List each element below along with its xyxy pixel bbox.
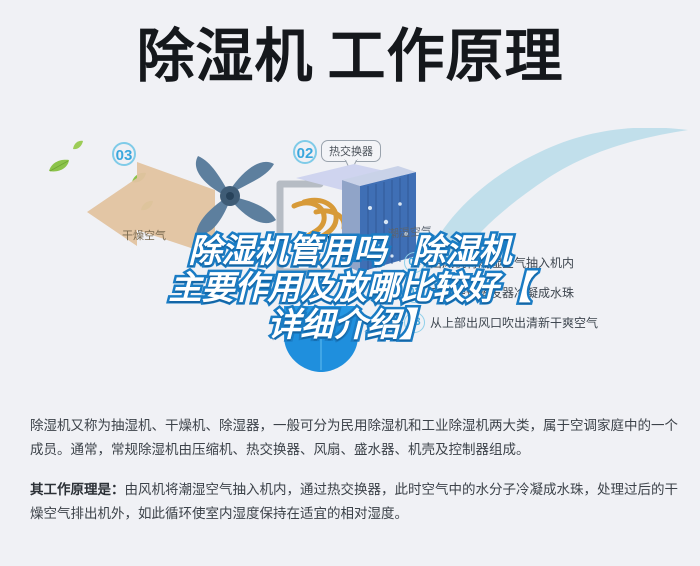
overlay-line-1b: 除湿机 <box>413 232 512 269</box>
leaf-icon <box>48 159 70 173</box>
overlay-headline: 除湿机管用吗除湿机 主要作用及放哪比较好【 详细介绍】 <box>0 232 700 343</box>
article-body: 除湿机又称为抽湿机、干燥机、除湿器，一般可分为民用除湿机和工业除湿机两大类，属于… <box>30 414 678 542</box>
page-title-part2: 工作原理 <box>328 24 564 89</box>
overlay-line-1a: 除湿机管用吗 <box>189 232 387 269</box>
overlay-line-1: 除湿机管用吗除湿机 <box>0 232 700 269</box>
paragraph-2: 其工作原理是：由风机将潮湿空气抽入机内，通过热交换器，此时空气中的水分子冷凝成水… <box>30 478 678 526</box>
overlay-line-3: 详细介绍】 <box>0 306 700 343</box>
leaf-icon <box>72 140 84 150</box>
paragraph-1: 除湿机又称为抽湿机、干燥机、除湿器，一般可分为民用除湿机和工业除湿机两大类，属于… <box>30 414 678 462</box>
page-title-part1: 除湿机 <box>136 24 313 89</box>
paragraph-2-rest: 由风机将潮湿空气抽入机内，通过热交换器，此时空气中的水分子冷凝成水珠，处理过后的… <box>30 482 678 521</box>
paragraph-2-lead: 其工作原理是： <box>30 482 125 497</box>
page-root: 除湿机工作原理 干燥空气 03 02 01 热交换器 <box>0 0 700 566</box>
overlay-line-2: 主要作用及放哪比较好【 <box>0 269 700 306</box>
page-title: 除湿机工作原理 <box>0 26 700 88</box>
badge-03: 03 <box>112 142 136 166</box>
